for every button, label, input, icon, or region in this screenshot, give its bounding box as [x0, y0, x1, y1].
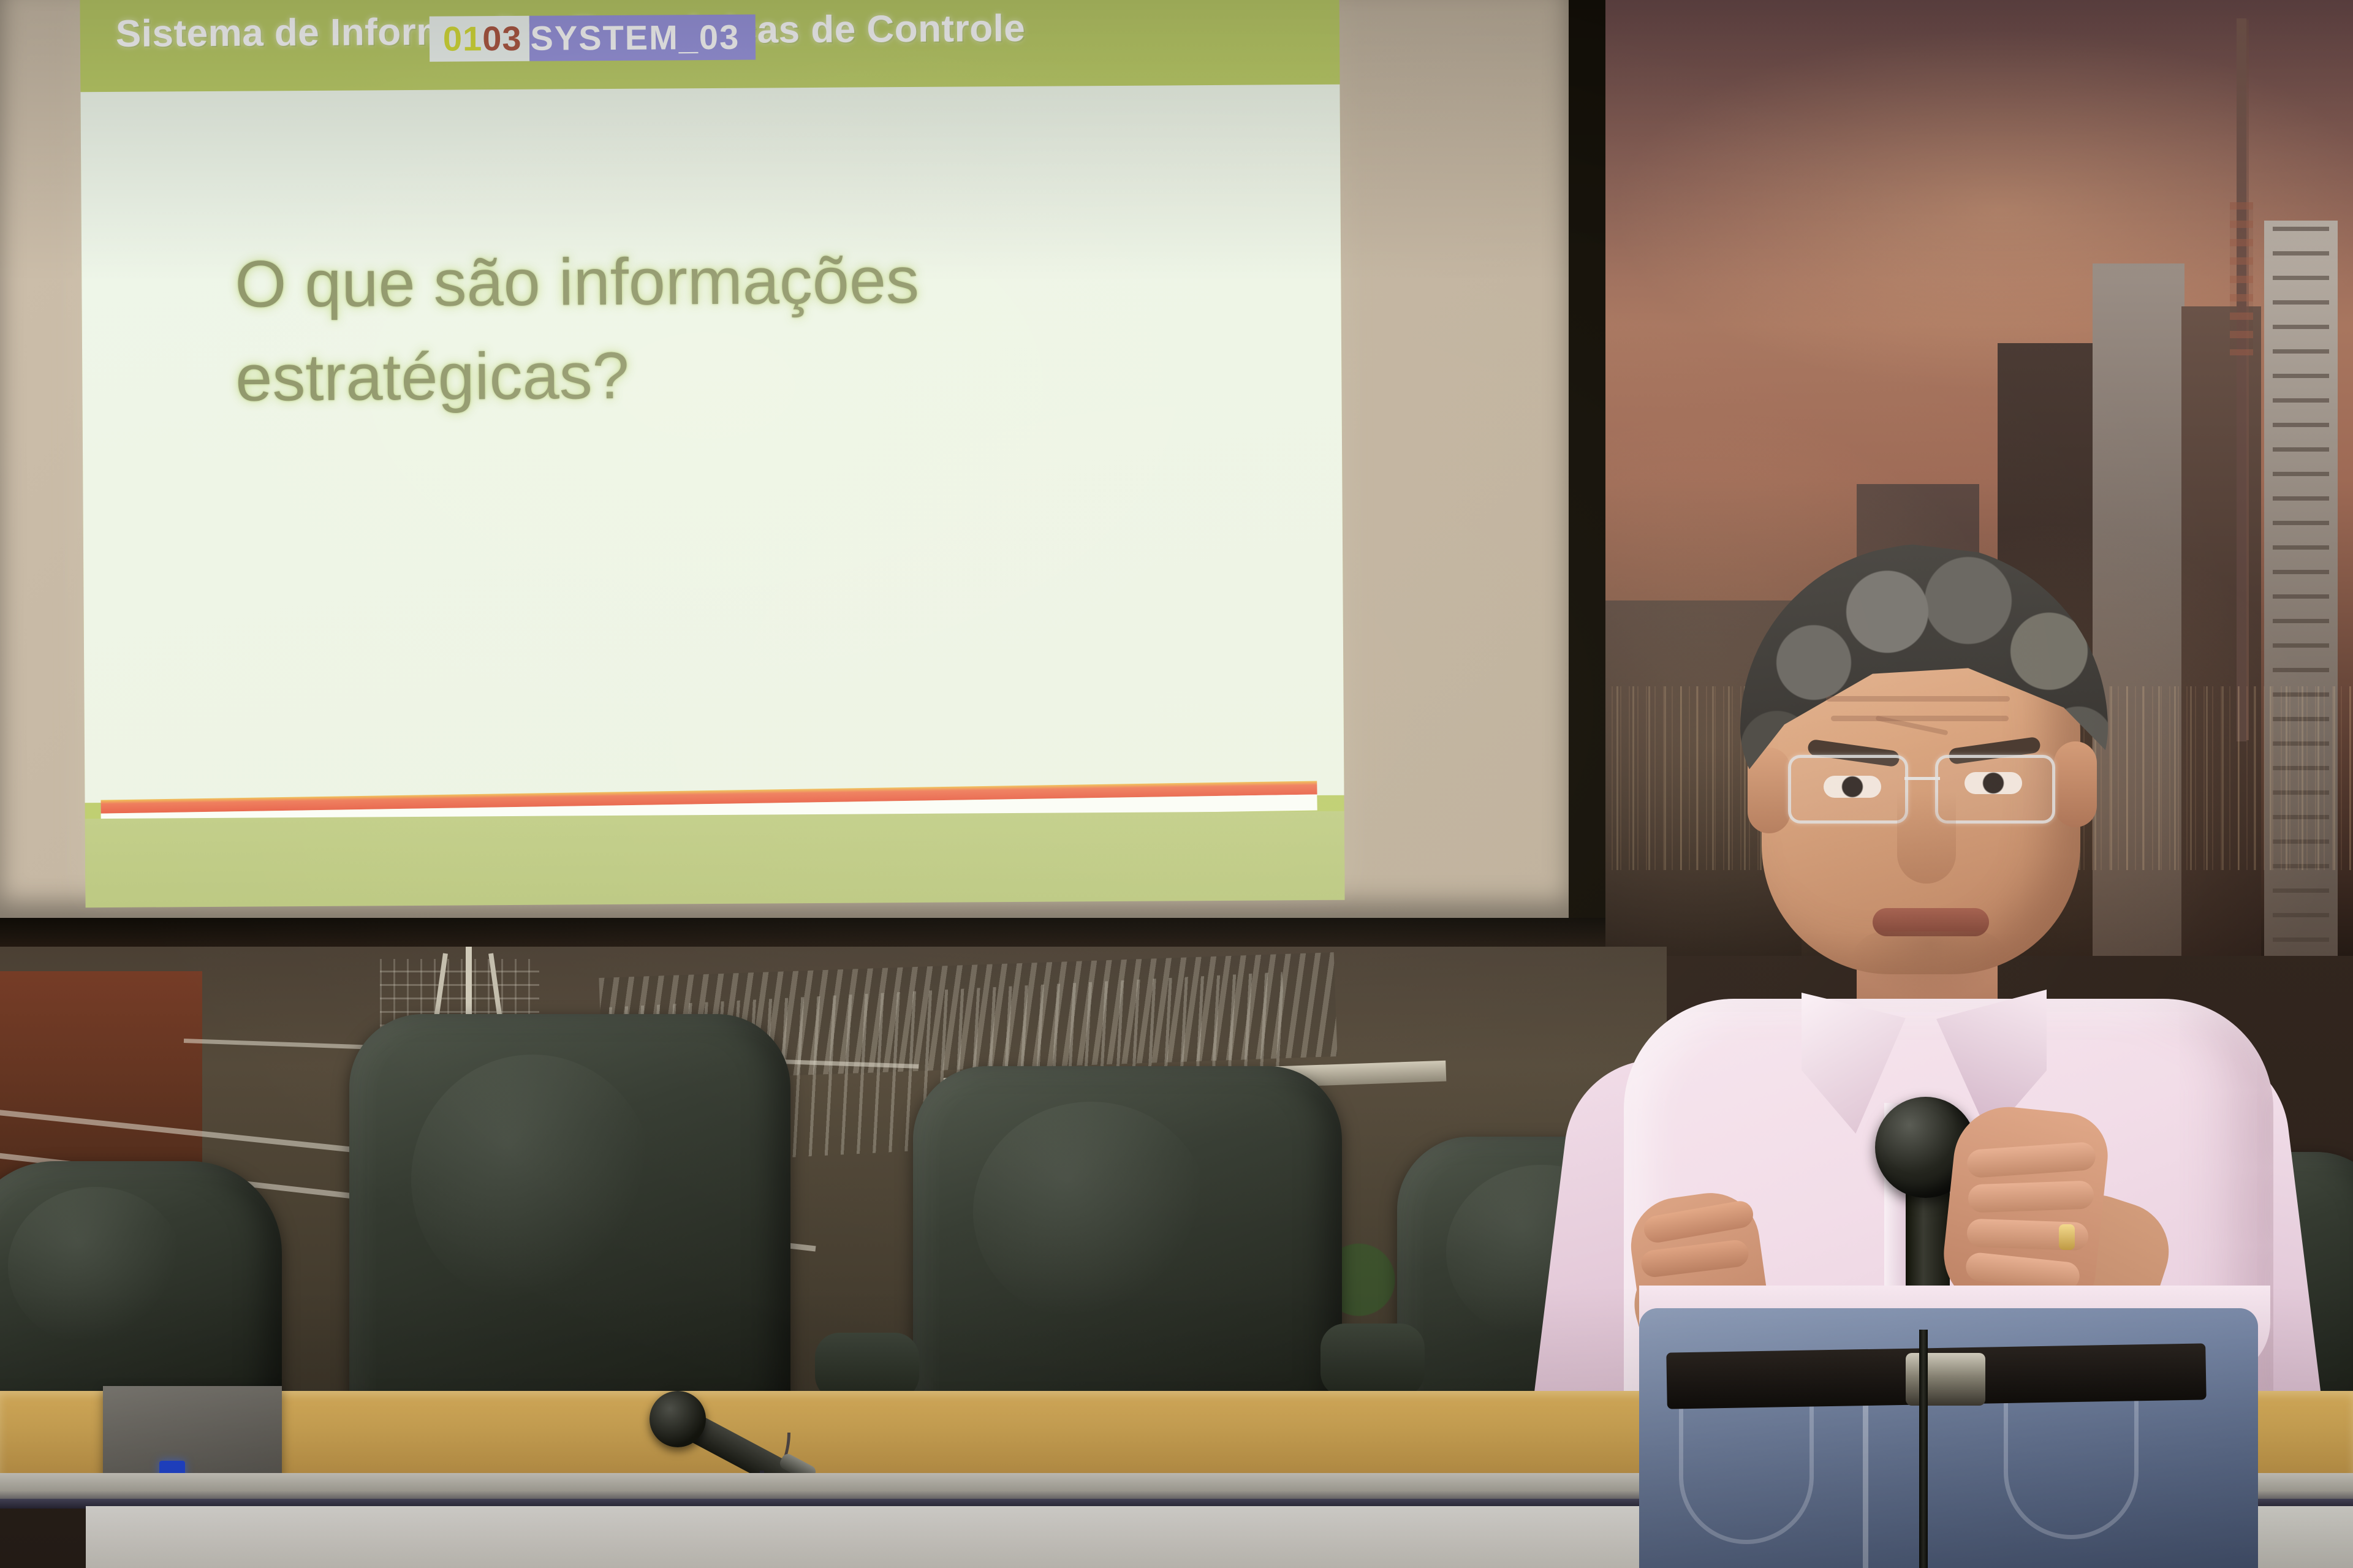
overlay-number-a: 01 [443, 16, 483, 61]
conference-room: Sistema de Informações Estratégicas de C… [0, 0, 2353, 1568]
finger [1968, 1180, 2094, 1213]
chair [349, 1014, 790, 1418]
slide-footer-band [85, 811, 1345, 908]
screen-bottom-edge [0, 918, 1605, 950]
projection-screen-frame: Sistema de Informações Estratégicas de C… [0, 0, 1605, 947]
overlay-number-b: 03 [482, 16, 522, 61]
overlay-system-label: SYSTEM_03 [529, 15, 756, 61]
slide-body-text: O que são informações estratégicas? [235, 232, 1094, 425]
chair [0, 1161, 282, 1418]
table-front-panel [86, 1506, 1654, 1568]
table-microphone-icon [650, 1391, 706, 1447]
wedding-ring [2059, 1224, 2075, 1250]
microphone-cable-lower [1919, 1330, 1928, 1568]
slide-body [80, 85, 1344, 803]
chair-armrest [1320, 1324, 1425, 1397]
chair [913, 1066, 1342, 1422]
chair-highlight [8, 1187, 183, 1346]
overlay-number-group: 0103 [430, 16, 529, 62]
projection-screen-surface: Sistema de Informações Estratégicas de C… [0, 0, 1569, 918]
jeans-pocket [2004, 1398, 2139, 1539]
overlay-filename-badge: 0103 SYSTEM_03 [430, 15, 756, 62]
forehead-line [1826, 696, 2010, 702]
chair-armrest [815, 1333, 919, 1400]
eyeglass-lens-left [1788, 755, 1908, 824]
jeans-seam [1863, 1385, 1868, 1568]
presenter-chin [1851, 931, 2010, 999]
belt-buckle [1906, 1353, 1985, 1406]
chair-highlight [973, 1102, 1209, 1322]
jeans-pocket [1679, 1403, 1814, 1544]
slide-body-line-1: O que são informações [235, 232, 1093, 331]
slide-body-line-2: estratégicas? [235, 326, 1094, 425]
presenter-nose [1897, 792, 1956, 884]
forehead-line [1831, 716, 2009, 721]
chair-highlight [411, 1055, 654, 1305]
presentation-slide: Sistema de Informações Estratégicas de C… [80, 0, 1345, 900]
